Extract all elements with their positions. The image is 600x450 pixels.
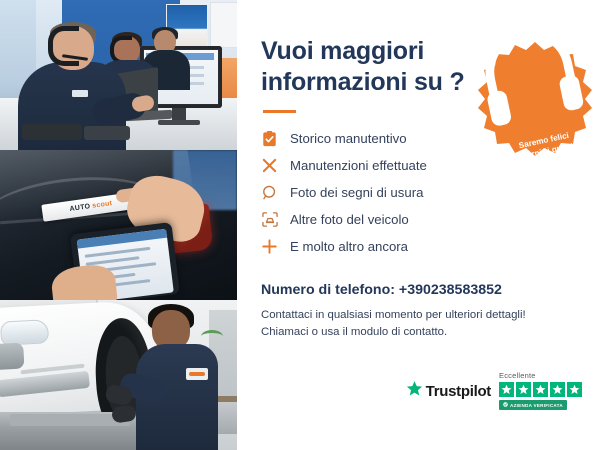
green-hose	[201, 330, 223, 343]
wall-poster-second	[210, 2, 237, 48]
list-item: Manutenzioni effettuate	[261, 152, 576, 179]
phone-number[interactable]: Numero di telefono: +390238583852	[261, 282, 576, 298]
photo-call-center	[0, 0, 237, 150]
desk-tablet	[22, 124, 82, 140]
list-item: Foto dei segni di usura	[261, 179, 576, 206]
rating-star	[533, 382, 548, 397]
list-item: Altre foto del veicolo	[261, 206, 576, 233]
car-scan-icon	[261, 211, 278, 228]
rating-star	[499, 382, 514, 397]
verified-label: AZIENDA VERIFICATA	[510, 403, 563, 408]
trustpilot-stars	[499, 382, 582, 397]
trustpilot-rating-label: Eccellente	[499, 371, 536, 380]
title-divider	[263, 110, 296, 113]
rating-star	[567, 382, 582, 397]
photo-wheel-inspection	[0, 300, 237, 450]
sticker-text-brand: scout	[92, 200, 113, 210]
content-panel: Vuoi maggiori informazioni su ? Saremo f…	[237, 0, 600, 450]
car-grille	[0, 343, 24, 371]
feature-list: Storico manutentivo Manutenzioni effettu…	[261, 125, 576, 260]
tablet-row	[85, 247, 151, 258]
plus-icon	[261, 238, 278, 255]
tools-cross-icon	[261, 157, 278, 174]
rating-star	[516, 382, 531, 397]
tablet-app-header	[77, 229, 167, 249]
headline-line-1: Vuoi maggiori	[261, 37, 424, 65]
list-item-label: Altre foto del veicolo	[290, 212, 409, 227]
car-lower-grille	[0, 371, 90, 398]
trustpilot-star-icon	[406, 380, 423, 402]
contact-block: Numero di telefono: +390238583852 Contat…	[261, 282, 576, 341]
sticker-text-auto: AUTO	[69, 203, 91, 213]
photo-sticker-inspection: AUTO scout	[0, 150, 237, 300]
trustpilot-rating[interactable]: Trustpilot Eccellente	[406, 371, 582, 410]
trustpilot-logo: Trustpilot	[406, 380, 491, 410]
contact-text-line-2: Chiamaci o usa il modulo di contatto.	[261, 324, 576, 341]
list-item-label: E molto altro ancora	[290, 239, 408, 254]
monitor-foot	[158, 120, 200, 125]
trustpilot-score-block: Eccellente	[499, 371, 582, 410]
advertisement-banner: AUTO scout	[0, 0, 600, 450]
list-item: E molto altro ancora	[261, 233, 576, 260]
hand-lower	[50, 263, 118, 300]
list-item-label: Foto dei segni di usura	[290, 185, 423, 200]
list-item-label: Manutenzioni effettuate	[290, 158, 427, 173]
list-item-label: Storico manutentivo	[290, 131, 407, 146]
verified-business-badge: AZIENDA VERIFICATA	[499, 400, 567, 410]
contact-text-line-1: Contattaci in qualsiasi momento per ulte…	[261, 307, 576, 324]
desk-document	[84, 126, 130, 140]
car-headlight	[0, 319, 49, 345]
clipboard-check-icon	[261, 130, 278, 147]
magnifier-icon	[261, 184, 278, 201]
person-front-headset	[48, 26, 79, 66]
person-front-badge	[72, 90, 88, 97]
verified-check-icon	[503, 402, 508, 408]
list-item: Storico manutentivo	[261, 125, 576, 152]
headline-line-2: informazioni su ?	[261, 67, 471, 98]
rating-star	[550, 382, 565, 397]
photo-column: AUTO scout	[0, 0, 237, 450]
mechanic-uniform-logo	[186, 368, 208, 380]
trustpilot-wordmark: Trustpilot	[426, 383, 491, 400]
page-title: Vuoi maggiori informazioni su ?	[261, 36, 471, 98]
